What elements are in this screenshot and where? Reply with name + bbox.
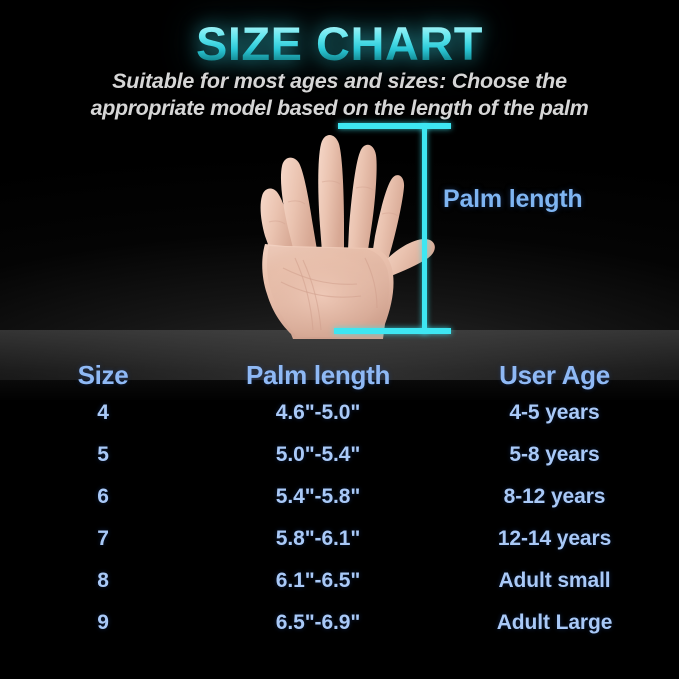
- measure-guide-vertical: [422, 123, 427, 334]
- cell-user-age: 8-12 years: [430, 485, 679, 509]
- cell-size: 7: [0, 527, 206, 551]
- cell-palm-length: 5.4"-5.8": [206, 485, 430, 509]
- hand-illustration: [225, 118, 450, 343]
- palm-length-label: Palm length: [443, 185, 583, 214]
- page-title: SIZE CHART: [0, 16, 679, 71]
- size-table: Size Palm length User Age 4 4.6"-5.0" 4-…: [0, 358, 679, 644]
- open-palm-hand-icon: [225, 118, 450, 343]
- cell-size: 6: [0, 485, 206, 509]
- cell-user-age: Adult small: [430, 569, 679, 593]
- cell-user-age: 5-8 years: [430, 443, 679, 467]
- measure-guide-bottom-bar: [334, 328, 451, 334]
- column-header-palm-length: Palm length: [206, 360, 430, 391]
- size-chart-graphic: SIZE CHART Suitable for most ages and si…: [0, 0, 679, 679]
- cell-user-age: 12-14 years: [430, 527, 679, 551]
- subtitle-line-1: Suitable for most ages and sizes: Choose…: [112, 69, 567, 93]
- cell-user-age: Adult Large: [430, 611, 679, 635]
- subtitle: Suitable for most ages and sizes: Choose…: [22, 68, 657, 122]
- column-header-user-age: User Age: [430, 360, 679, 391]
- cell-user-age: 4-5 years: [430, 401, 679, 425]
- table-row: 6 5.4"-5.8" 8-12 years: [0, 476, 679, 518]
- cell-size: 4: [0, 401, 206, 425]
- hand-shape: [261, 135, 435, 339]
- cell-palm-length: 6.1"-6.5": [206, 569, 430, 593]
- table-header-row: Size Palm length User Age: [0, 358, 679, 392]
- table-row: 8 6.1"-6.5" Adult small: [0, 560, 679, 602]
- cell-size: 8: [0, 569, 206, 593]
- cell-palm-length: 4.6"-5.0": [206, 401, 430, 425]
- table-row: 9 6.5"-6.9" Adult Large: [0, 602, 679, 644]
- table-row: 4 4.6"-5.0" 4-5 years: [0, 392, 679, 434]
- measure-guide-top-bar: [338, 123, 451, 129]
- cell-palm-length: 5.8"-6.1": [206, 527, 430, 551]
- table-row: 7 5.8"-6.1" 12-14 years: [0, 518, 679, 560]
- column-header-size: Size: [0, 360, 206, 391]
- table-row: 5 5.0"-5.4" 5-8 years: [0, 434, 679, 476]
- cell-size: 9: [0, 611, 206, 635]
- cell-size: 5: [0, 443, 206, 467]
- cell-palm-length: 5.0"-5.4": [206, 443, 430, 467]
- cell-palm-length: 6.5"-6.9": [206, 611, 430, 635]
